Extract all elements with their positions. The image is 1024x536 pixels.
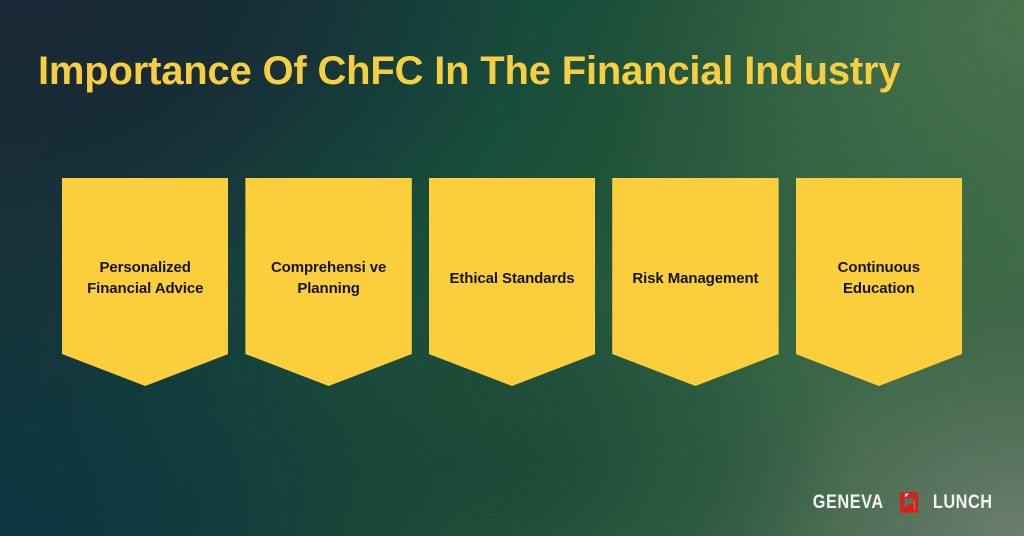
brand-logo-word-left: GENEVA <box>813 493 884 512</box>
banner-card-personalized-financial-advice: Personalized Financial Advice <box>62 178 228 386</box>
banner-card-label: Comprehensi ve Planning <box>245 257 411 299</box>
brand-logo: GENEVA LUNCH <box>807 489 997 515</box>
page-title: Importance Of ChFC In The Financial Indu… <box>38 47 998 95</box>
geneva-g-monogram-icon <box>897 490 921 515</box>
banner-card-continuous-education: Continuous Education <box>796 178 962 386</box>
banner-card-label: Continuous Education <box>796 257 962 299</box>
banner-card-label: Personalized Financial Advice <box>62 257 228 299</box>
infographic-canvas: Importance Of ChFC In The Financial Indu… <box>0 0 1024 536</box>
banner-card-label: Risk Management <box>612 268 778 289</box>
banner-card-row: Personalized Financial Advice Comprehens… <box>62 178 962 386</box>
banner-card-comprehensive-planning: Comprehensi ve Planning <box>245 178 411 386</box>
banner-card-label: Ethical Standards <box>429 268 595 289</box>
banner-card-risk-management: Risk Management <box>612 178 778 386</box>
banner-card-ethical-standards: Ethical Standards <box>429 178 595 386</box>
brand-logo-word-right: LUNCH <box>932 493 992 512</box>
